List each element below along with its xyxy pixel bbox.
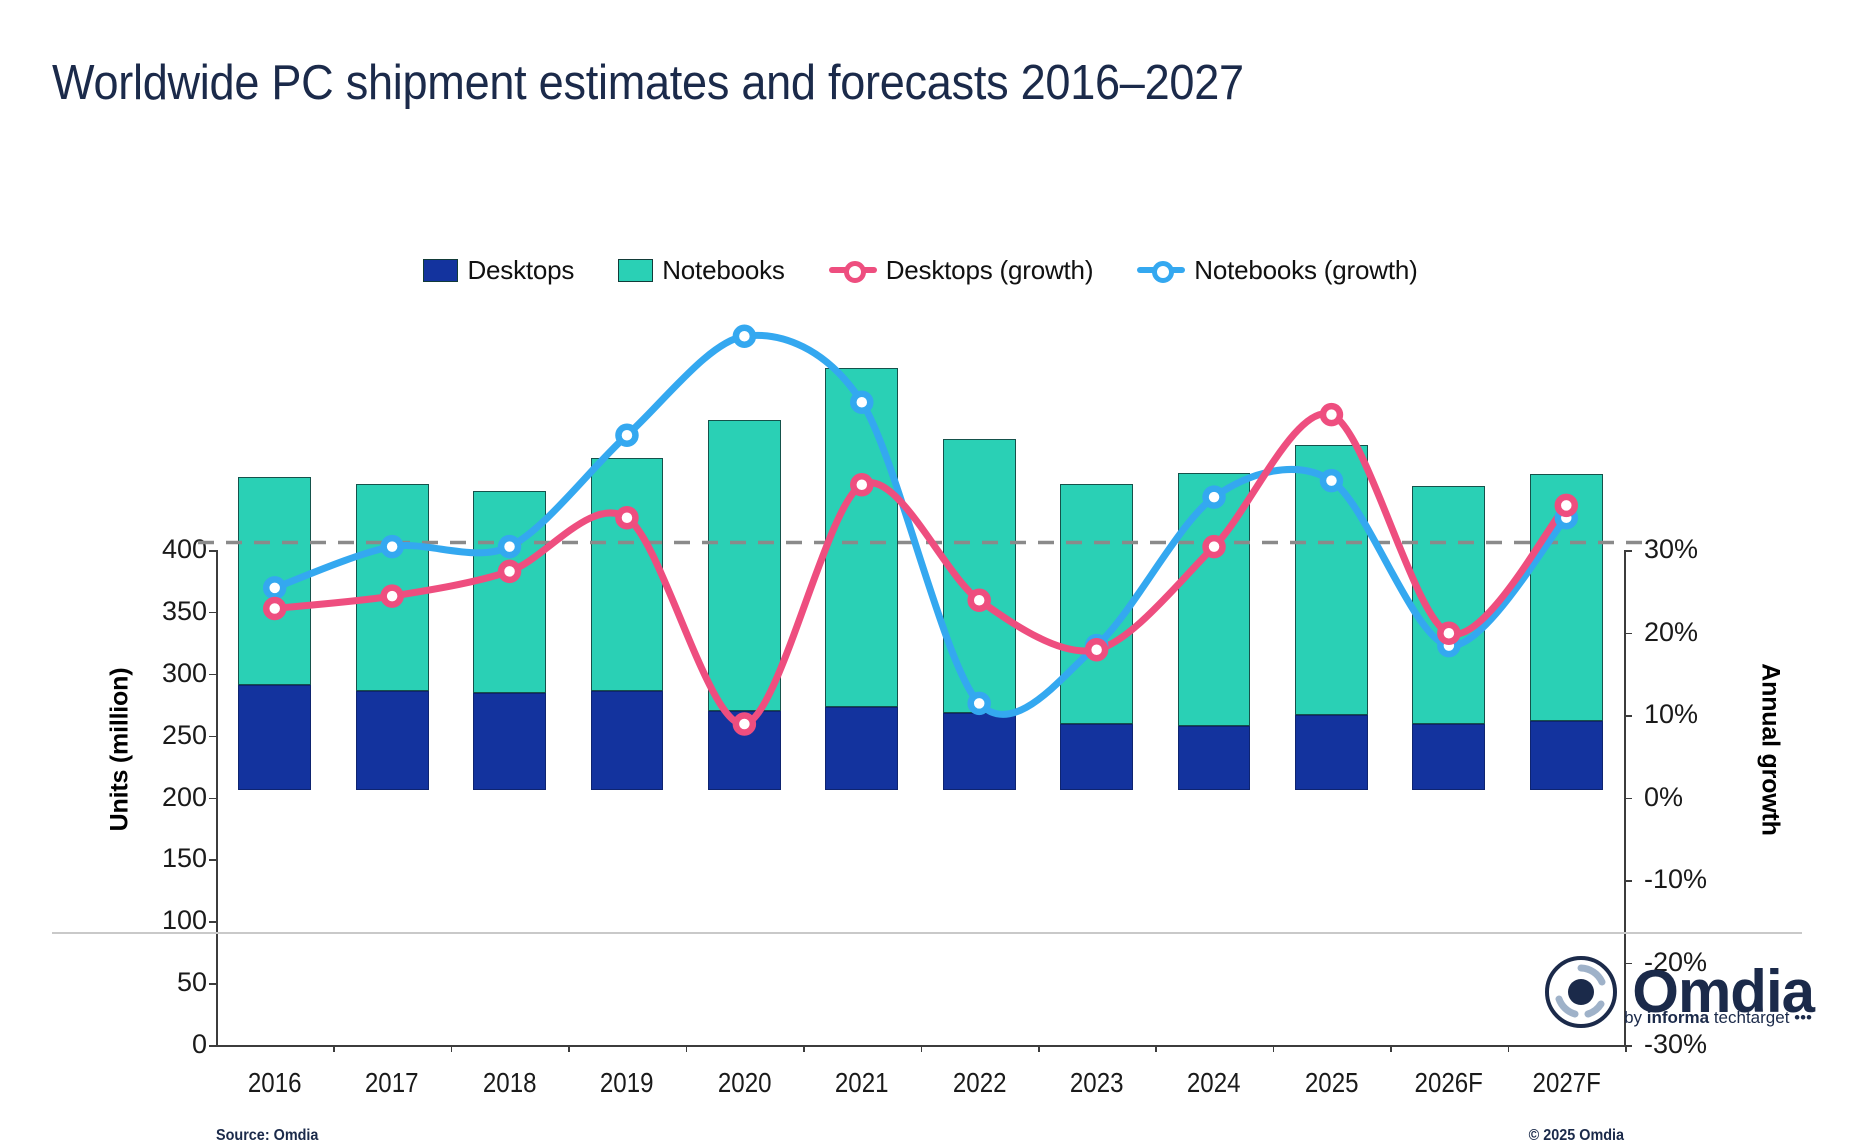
legend-label: Desktops	[467, 255, 574, 286]
source-note: Source: Omdia	[216, 1127, 318, 1145]
legend-item-desktops[interactable]: Desktops	[423, 255, 574, 286]
legend-swatch-icon	[618, 259, 653, 282]
x-axis-tickmark	[451, 1045, 453, 1052]
y-axis-right-tickmark	[1625, 633, 1632, 635]
legend-line-marker-icon	[829, 259, 877, 281]
y-axis-left-tick-label: 0	[125, 1031, 207, 1058]
y-axis-right-tick-label: 10%	[1644, 701, 1754, 728]
tagline-rest: techtarget •••	[1709, 1008, 1812, 1027]
x-axis-tickmark	[1508, 1045, 1510, 1052]
growth-marker-desktops[interactable]	[1558, 497, 1575, 514]
plot-area	[216, 295, 1625, 790]
growth-marker-notebooks[interactable]	[618, 427, 635, 444]
x-axis-tickmark	[686, 1045, 688, 1052]
x-axis-tick-label: 2017	[342, 1067, 443, 1099]
footer-divider	[52, 932, 1802, 934]
y-axis-right-title: Annual growth	[1756, 620, 1785, 880]
chart-container: DesktopsNotebooksDesktops (growth)Notebo…	[0, 255, 1854, 855]
y-axis-left-tick-label: 350	[125, 598, 207, 625]
y-axis-right-tick-label: -30%	[1644, 1031, 1754, 1058]
x-axis-tickmark	[1390, 1045, 1392, 1052]
omdia-mark-icon	[1544, 955, 1618, 1029]
x-axis-tick-label: 2021	[811, 1067, 912, 1099]
y-axis-left-tickmark	[209, 674, 216, 676]
legend-item-notebooks[interactable]: Notebooks	[618, 255, 785, 286]
x-axis-tick-label: 2018	[459, 1067, 560, 1099]
legend-swatch-icon	[423, 259, 458, 282]
x-axis-tick-label: 2016	[224, 1067, 325, 1099]
growth-marker-notebooks[interactable]	[1206, 489, 1223, 506]
growth-marker-desktops[interactable]	[1440, 625, 1457, 642]
y-axis-left-tickmark	[209, 798, 216, 800]
y-axis-right-tickmark	[1625, 715, 1632, 717]
x-axis-tick-label: 2023	[1046, 1067, 1147, 1099]
growth-marker-notebooks[interactable]	[736, 328, 753, 345]
y-axis-right-tick-label: -10%	[1644, 866, 1754, 893]
chart-legend: DesktopsNotebooksDesktops (growth)Notebo…	[216, 250, 1625, 290]
y-axis-left-tick-label: 200	[125, 784, 207, 811]
y-axis-left-tickmark	[209, 859, 216, 861]
legend-item-notebooks-growth[interactable]: Notebooks (growth)	[1137, 255, 1417, 286]
copyright-note: © 2025 Omdia	[1529, 1127, 1624, 1145]
growth-marker-desktops[interactable]	[501, 563, 518, 580]
growth-marker-desktops[interactable]	[853, 476, 870, 493]
tagline-prefix: by	[1624, 1008, 1647, 1027]
x-axis-tick-label: 2022	[929, 1067, 1030, 1099]
growth-marker-desktops[interactable]	[266, 600, 283, 617]
y-axis-right-tick-label: 30%	[1644, 536, 1754, 563]
y-axis-left-tickmark	[209, 983, 216, 985]
y-axis-right-tickmark	[1625, 798, 1632, 800]
y-axis-left-tickmark	[209, 550, 216, 552]
x-axis-tick-label: 2025	[1281, 1067, 1382, 1099]
y-axis-left-tickmark	[209, 1045, 216, 1047]
omdia-logo: Omdia by informa techtarget •••	[1544, 955, 1814, 1029]
y-axis-left-tickmark	[209, 921, 216, 923]
y-axis-right-tickmark	[1625, 880, 1632, 882]
page-title: Worldwide PC shipment estimates and fore…	[52, 55, 1432, 111]
y-axis-left-tickmark	[209, 736, 216, 738]
growth-marker-notebooks[interactable]	[266, 579, 283, 596]
growth-marker-notebooks[interactable]	[971, 695, 988, 712]
y-axis-left-tick-label: 250	[125, 722, 207, 749]
y-axis-right-tick-label: 0%	[1644, 784, 1754, 811]
omdia-tagline: by informa techtarget •••	[1624, 1008, 1812, 1028]
legend-item-desktops-growth[interactable]: Desktops (growth)	[829, 255, 1094, 286]
y-axis-right-tickmark	[1625, 550, 1632, 552]
y-axis-left-tick-label: 300	[125, 660, 207, 687]
legend-label: Notebooks (growth)	[1194, 255, 1417, 286]
y-axis-left-tick-label: 50	[125, 969, 207, 996]
x-axis-tick-label: 2019	[576, 1067, 677, 1099]
legend-label: Notebooks	[662, 255, 785, 286]
growth-marker-desktops[interactable]	[618, 509, 635, 526]
growth-marker-desktops[interactable]	[1088, 641, 1105, 658]
x-axis-tick-label: 2024	[1164, 1067, 1265, 1099]
tagline-bold: informa	[1647, 1008, 1709, 1027]
x-axis-tickmark	[1273, 1045, 1275, 1052]
legend-line-marker-icon	[1137, 259, 1185, 281]
growth-marker-desktops[interactable]	[971, 592, 988, 609]
x-axis-tick-label: 2020	[694, 1067, 795, 1099]
growth-marker-desktops[interactable]	[1323, 406, 1340, 423]
x-axis-tickmark	[333, 1045, 335, 1052]
x-axis-tickmark	[1038, 1045, 1040, 1052]
y-axis-left-tickmark	[209, 612, 216, 614]
growth-marker-desktops[interactable]	[736, 716, 753, 733]
x-axis-tick-label: 2027F	[1516, 1067, 1617, 1099]
x-axis-tickmark	[921, 1045, 923, 1052]
x-axis-tickmark	[1155, 1045, 1157, 1052]
growth-marker-notebooks[interactable]	[1323, 472, 1340, 489]
growth-marker-notebooks[interactable]	[384, 538, 401, 555]
y-axis-left-tick-label: 100	[125, 907, 207, 934]
growth-marker-desktops[interactable]	[384, 588, 401, 605]
legend-label: Desktops (growth)	[886, 255, 1094, 286]
y-axis-right-tick-label: 20%	[1644, 619, 1754, 646]
x-axis-tickmark	[568, 1045, 570, 1052]
y-axis-left-tick-label: 150	[125, 845, 207, 872]
growth-marker-notebooks[interactable]	[853, 394, 870, 411]
growth-marker-notebooks[interactable]	[501, 538, 518, 555]
x-axis-tickmark	[1625, 1045, 1627, 1052]
x-axis-tickmark	[803, 1045, 805, 1052]
y-axis-left-title: Units (million)	[106, 620, 135, 880]
line-layer	[216, 295, 1625, 790]
y-axis-left-tick-label: 400	[125, 536, 207, 563]
x-axis-tick-label: 2026F	[1398, 1067, 1499, 1099]
growth-marker-desktops[interactable]	[1206, 538, 1223, 555]
